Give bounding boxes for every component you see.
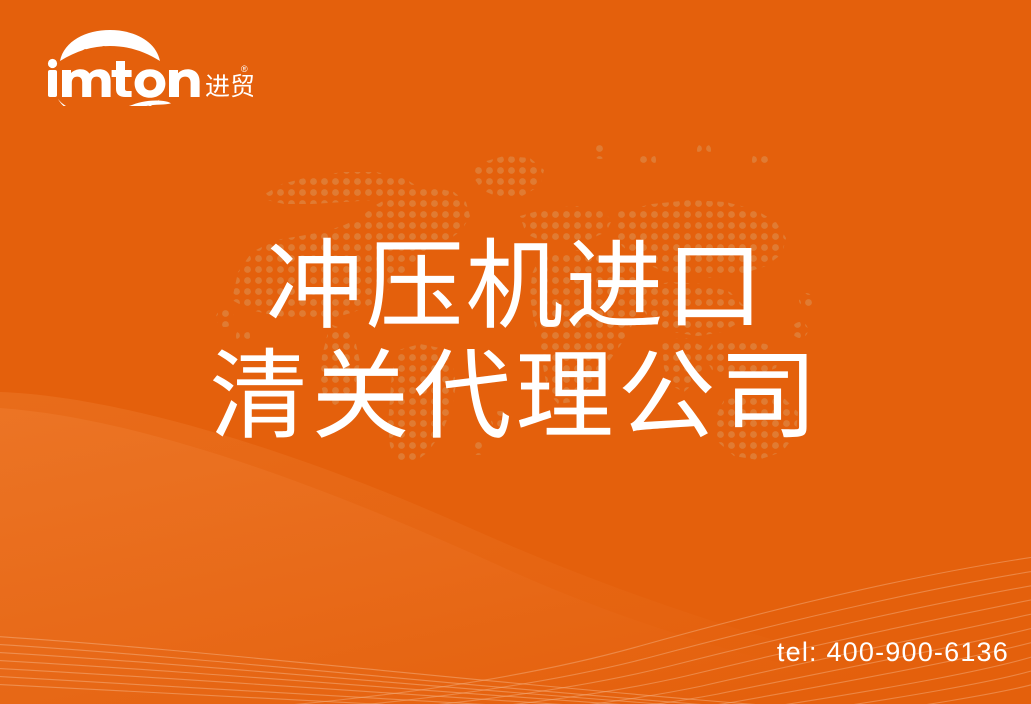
globe-icon <box>60 30 160 61</box>
logo-wordmark <box>48 59 200 98</box>
headline-line-2: 清关代理公司 <box>0 342 1031 452</box>
swoosh-bird-icon <box>58 99 171 106</box>
promo-banner: 进贸通 ® 冲压机进口 清关代理公司 tel: 400-900-6136 <box>0 0 1031 704</box>
contact-phone: tel: 400-900-6136 <box>777 637 1009 668</box>
registered-trademark-icon: ® <box>241 64 248 74</box>
page-title: 冲压机进口 清关代理公司 <box>0 232 1031 452</box>
logo-wordmark-cn: 进贸通 <box>205 73 253 101</box>
company-logo: 进贸通 ® <box>38 26 253 106</box>
headline-line-1: 冲压机进口 <box>0 232 1031 342</box>
